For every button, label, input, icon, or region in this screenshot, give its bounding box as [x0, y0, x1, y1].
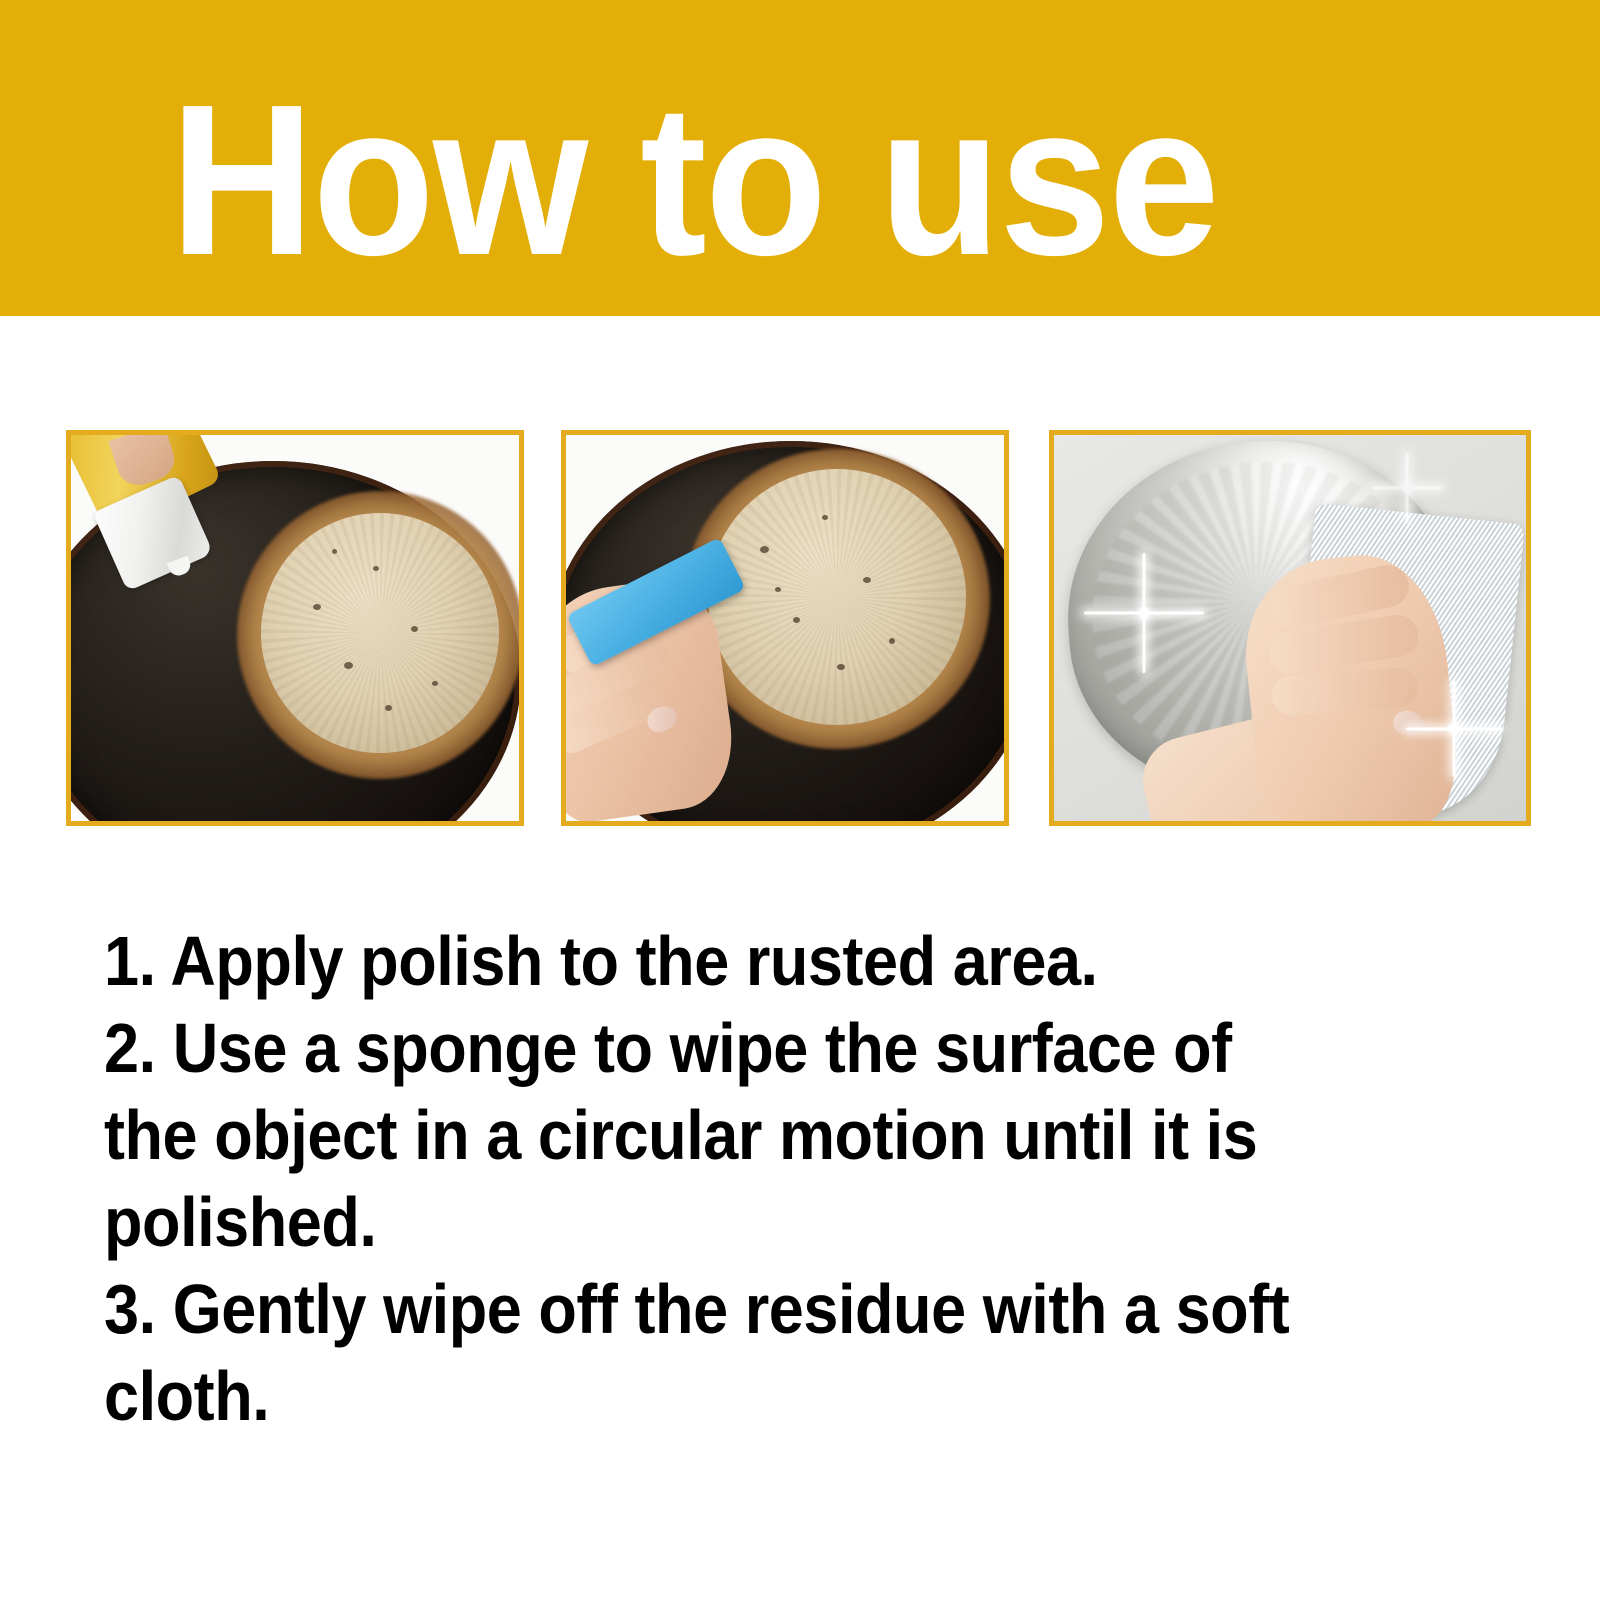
instruction-line: the object in a circular motion until it…	[104, 1092, 1473, 1179]
rust-patch	[261, 513, 499, 753]
instruction-line: 1. Apply polish to the rusted area.	[104, 918, 1473, 1005]
scene-apply-polish	[71, 435, 519, 821]
steps-image-row	[0, 430, 1600, 830]
step-image-panel-2	[561, 430, 1009, 826]
instruction-line: polished.	[104, 1179, 1473, 1266]
header-band: How to use	[0, 0, 1600, 316]
fingernail	[1391, 708, 1425, 738]
instructions-list: 1. Apply polish to the rusted area. 2. U…	[104, 918, 1474, 1440]
instruction-line: cloth.	[104, 1353, 1473, 1440]
rust-patch	[708, 469, 966, 725]
scene-sponge-wipe	[566, 435, 1004, 821]
instruction-line: 3. Gently wipe off the residue with a so…	[104, 1266, 1473, 1353]
page-title: How to use	[170, 72, 1218, 287]
scene-polish-with-cloth	[1054, 435, 1526, 821]
step-image-panel-3	[1049, 430, 1531, 826]
instruction-line: 2. Use a sponge to wipe the surface of	[104, 1005, 1473, 1092]
step-image-panel-1	[66, 430, 524, 826]
